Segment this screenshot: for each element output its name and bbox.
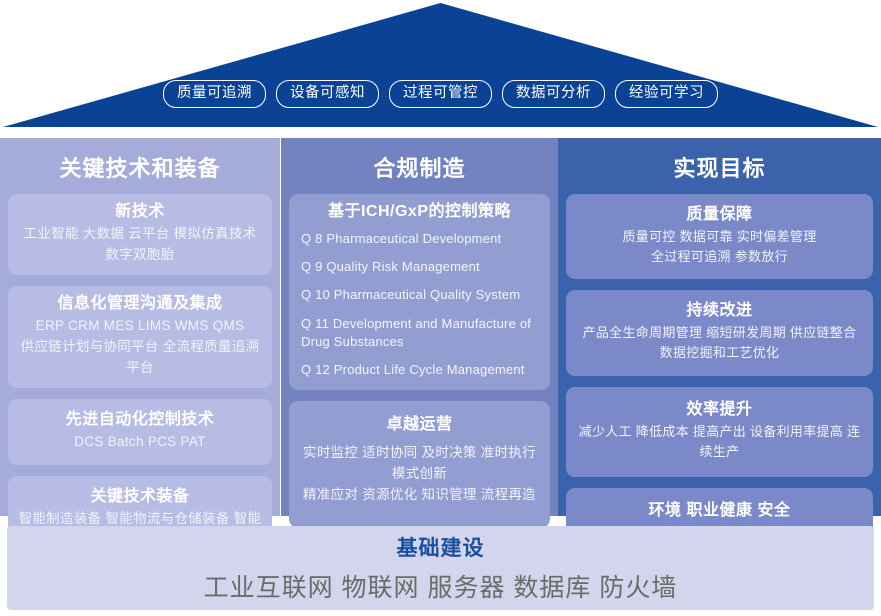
roof-triangle-icon bbox=[0, 0, 881, 130]
roof-pill-0[interactable]: 质量可追溯 bbox=[163, 80, 266, 108]
card-title: 信息化管理沟通及集成 bbox=[17, 294, 263, 314]
list-item: Q 9 Quality Risk Management bbox=[301, 258, 538, 276]
card-body: 产品全生命周期管理 缩短研发周期 供应链整合数据挖掘和工艺优化 bbox=[575, 323, 864, 363]
column-title-key-technology: 关键技术和装备 bbox=[8, 151, 272, 183]
card-title: 环境 职业健康 安全 bbox=[575, 501, 864, 521]
card-body: ERP CRM MES LIMS WMS QMS供应链计划与协同平台 全流程质量… bbox=[17, 316, 263, 379]
column-compliant-manufacturing: 合规制造 基于ICH/GxP的控制策略 Q 8 Pharmaceutical D… bbox=[281, 138, 558, 516]
card-quality-assurance[interactable]: 质量保障 质量可控 数据可靠 实时偏差管理全过程可追溯 参数放行 bbox=[566, 194, 873, 279]
card-continuous-improvement[interactable]: 持续改进 产品全生命周期管理 缩短研发周期 供应链整合数据挖掘和工艺优化 bbox=[566, 290, 873, 375]
roof-pill-1[interactable]: 设备可感知 bbox=[276, 80, 379, 108]
card-advanced-automation-control[interactable]: 先进自动化控制技术 DCS Batch PCS PAT bbox=[8, 399, 272, 465]
card-efficiency-improvement[interactable]: 效率提升 减少人工 降低成本 提高产出 设备利用率提高 连续生产 bbox=[566, 387, 873, 477]
card-new-technology[interactable]: 新技术 工业智能 大数据 云平台 模拟仿真技术数字双胞胎 bbox=[8, 194, 272, 275]
list-item: Q 8 Pharmaceutical Development bbox=[301, 230, 538, 248]
roof-pill-2[interactable]: 过程可管控 bbox=[389, 80, 492, 108]
roof-banner: 质量可追溯 设备可感知 过程可管控 数据可分析 经验可学习 bbox=[0, 0, 881, 130]
card-title: 基于ICH/GxP的控制策略 bbox=[298, 202, 541, 222]
column-title-compliant-manufacturing: 合规制造 bbox=[289, 151, 550, 183]
card-title: 关键技术装备 bbox=[17, 487, 263, 507]
ich-guideline-list: Q 8 Pharmaceutical Development Q 9 Quali… bbox=[298, 230, 541, 379]
card-ich-gxp-control-strategy[interactable]: 基于ICH/GxP的控制策略 Q 8 Pharmaceutical Develo… bbox=[289, 194, 550, 390]
card-operational-excellence[interactable]: 卓越运营 实时监控 适时协同 及时决策 准时执行 模式创新精准应对 资源优化 知… bbox=[289, 401, 550, 528]
list-item: Q 10 Pharmaceutical Quality System bbox=[301, 286, 538, 304]
card-body: 质量可控 数据可靠 实时偏差管理全过程可追溯 参数放行 bbox=[575, 227, 864, 267]
column-goals: 实现目标 质量保障 质量可控 数据可靠 实时偏差管理全过程可追溯 参数放行 持续… bbox=[558, 138, 881, 516]
column-title-goals: 实现目标 bbox=[566, 151, 873, 183]
column-key-technology: 关键技术和装备 新技术 工业智能 大数据 云平台 模拟仿真技术数字双胞胎 信息化… bbox=[0, 138, 280, 516]
foundation-items: 工业互联网 物联网 服务器 数据库 防火墙 bbox=[204, 568, 678, 604]
list-item: Q 11 Development and Manufacture of Drug… bbox=[301, 315, 538, 351]
card-title: 新技术 bbox=[17, 202, 263, 222]
pillar-columns: 关键技术和装备 新技术 工业智能 大数据 云平台 模拟仿真技术数字双胞胎 信息化… bbox=[0, 138, 881, 516]
card-body: 减少人工 降低成本 提高产出 设备利用率提高 连续生产 bbox=[575, 422, 864, 462]
card-body: DCS Batch PCS PAT bbox=[17, 432, 263, 453]
card-body: 工业智能 大数据 云平台 模拟仿真技术数字双胞胎 bbox=[17, 224, 263, 266]
roof-pill-group: 质量可追溯 设备可感知 过程可管控 数据可分析 经验可学习 bbox=[0, 80, 881, 108]
roof-pill-3[interactable]: 数据可分析 bbox=[502, 80, 605, 108]
card-title: 质量保障 bbox=[575, 205, 864, 225]
card-title: 效率提升 bbox=[575, 400, 864, 420]
list-item: Q 12 Product Life Cycle Management bbox=[301, 361, 538, 379]
foundation-bar: 基础建设 工业互联网 物联网 服务器 数据库 防火墙 bbox=[7, 526, 874, 610]
foundation-title: 基础建设 bbox=[397, 532, 485, 562]
card-title: 持续改进 bbox=[575, 301, 864, 321]
card-title: 卓越运营 bbox=[298, 415, 541, 435]
roof-pill-4[interactable]: 经验可学习 bbox=[615, 80, 718, 108]
card-body: 实时监控 适时协同 及时决策 准时执行 模式创新精准应对 资源优化 知识管理 流… bbox=[298, 443, 541, 506]
card-informatization-management[interactable]: 信息化管理沟通及集成 ERP CRM MES LIMS WMS QMS供应链计划… bbox=[8, 286, 272, 388]
card-title: 先进自动化控制技术 bbox=[17, 410, 263, 430]
